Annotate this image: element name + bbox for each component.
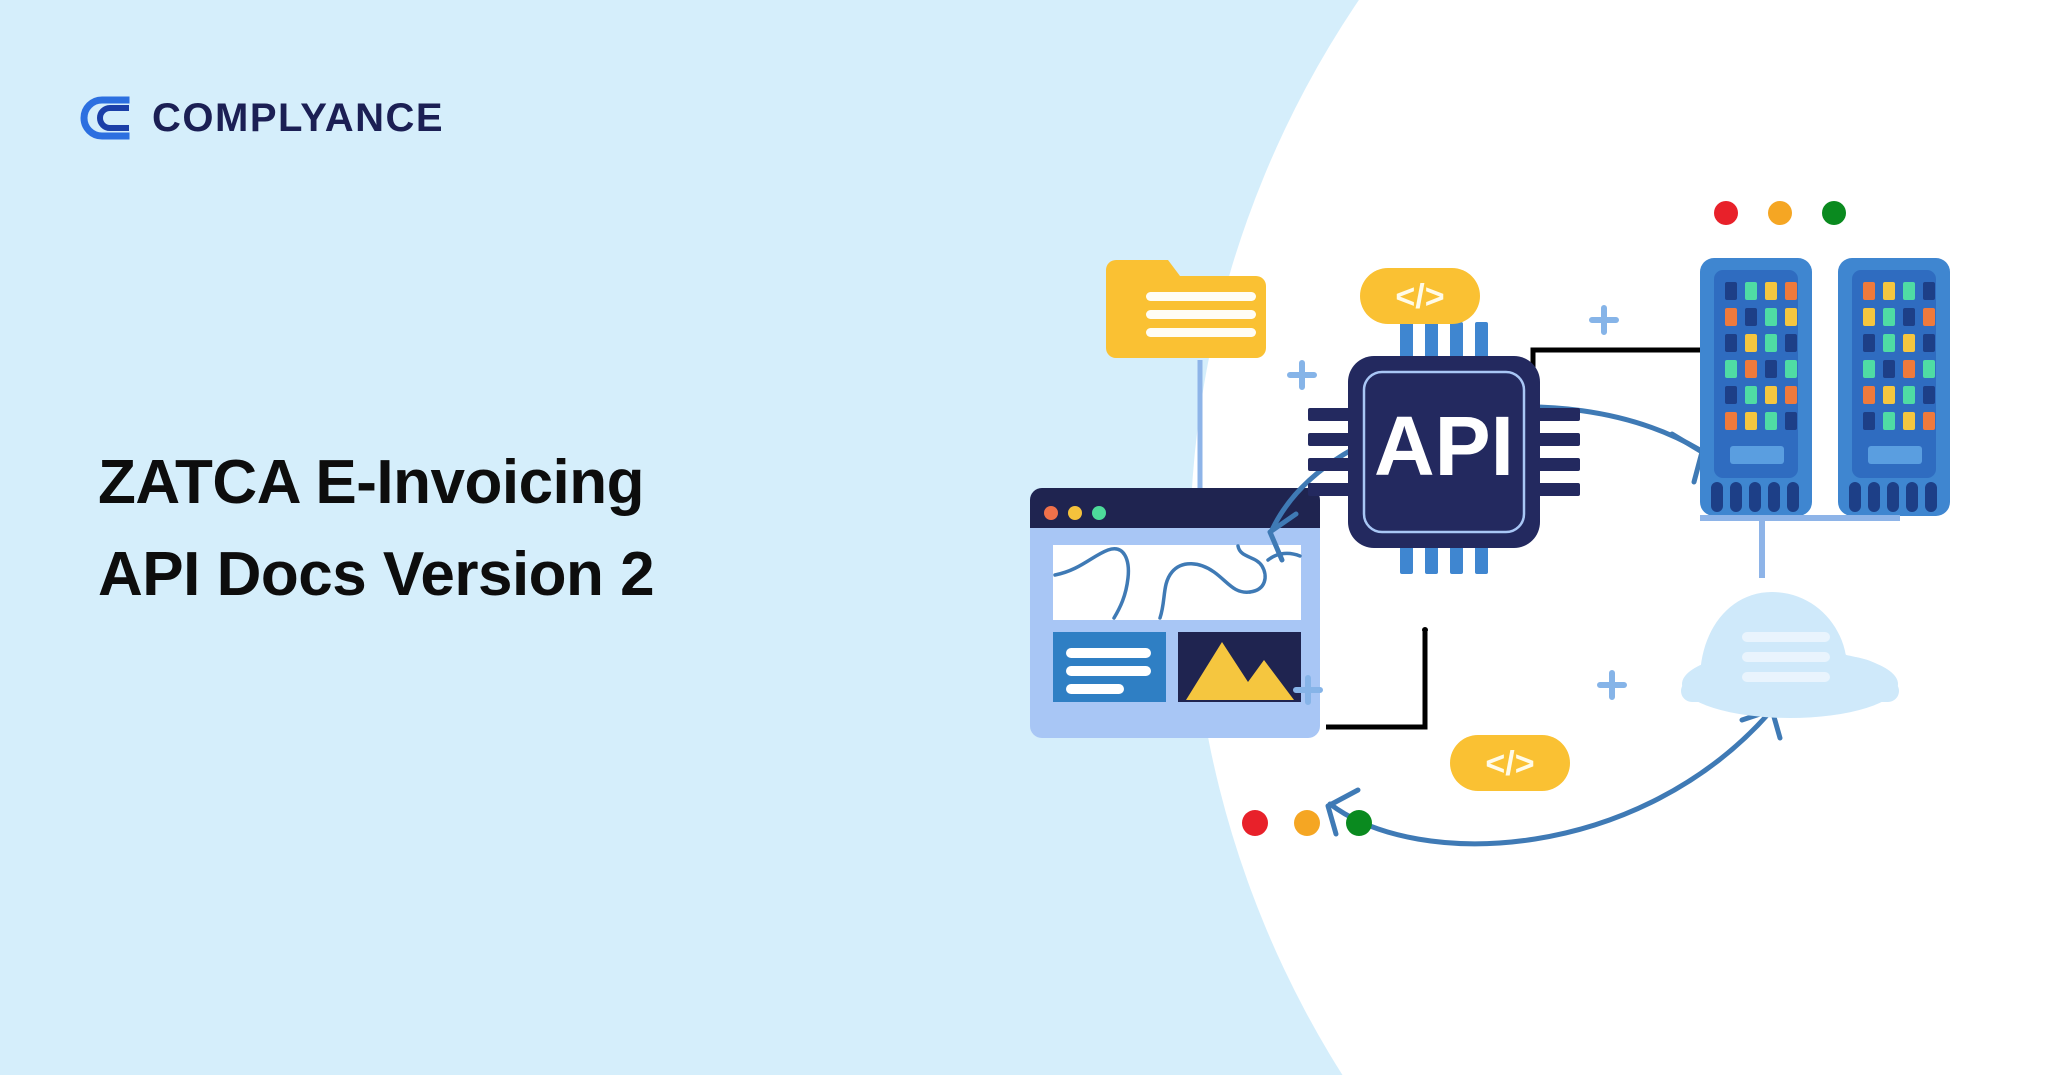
status-dot-red [1714,201,1738,225]
chip-label: API [1374,399,1514,493]
browser-dot-green [1092,506,1106,520]
page-title-line-1: ZATCA E-Invoicing [98,437,654,529]
status-dot-amber [1768,201,1792,225]
chip-to-browser-connector [1326,627,1428,727]
bottom-dot-red [1242,810,1268,836]
folder-icon [1106,260,1266,358]
api-integration-illustration: API </> </> [1000,200,2020,880]
code-badge-bottom: </> [1450,735,1570,791]
server-status-dots [1714,201,1846,225]
server-rack-left [1700,258,1812,516]
plus-icon-4 [1600,673,1624,697]
server-rack-right [1838,258,1950,516]
browser-dot-red [1044,506,1058,520]
bottom-dot-amber [1294,810,1320,836]
code-badge-top: </> [1360,268,1480,324]
plus-icon-3 [1592,308,1616,332]
cloud-icon [1681,592,1899,718]
page-title-line-2: API Docs Version 2 [98,529,654,621]
api-chip: API [1308,322,1580,574]
svg-text:</>: </> [1395,278,1444,316]
svg-text:</>: </> [1485,745,1534,783]
banner-root: COMPLYANCE ZATCA E-Invoicing API Docs Ve… [0,0,2048,1075]
plus-icon-1 [1290,363,1314,387]
page-title: ZATCA E-Invoicing API Docs Version 2 [98,437,654,621]
brand-wordmark: COMPLYANCE [152,98,444,138]
brand-logo[interactable]: COMPLYANCE [80,95,444,141]
status-dot-green [1822,201,1846,225]
browser-dot-yellow [1068,506,1082,520]
bottom-status-dots [1242,810,1372,836]
cloud-connector [1700,518,1900,578]
double-c-arc-logo-icon [80,95,142,141]
bottom-dot-green [1346,810,1372,836]
